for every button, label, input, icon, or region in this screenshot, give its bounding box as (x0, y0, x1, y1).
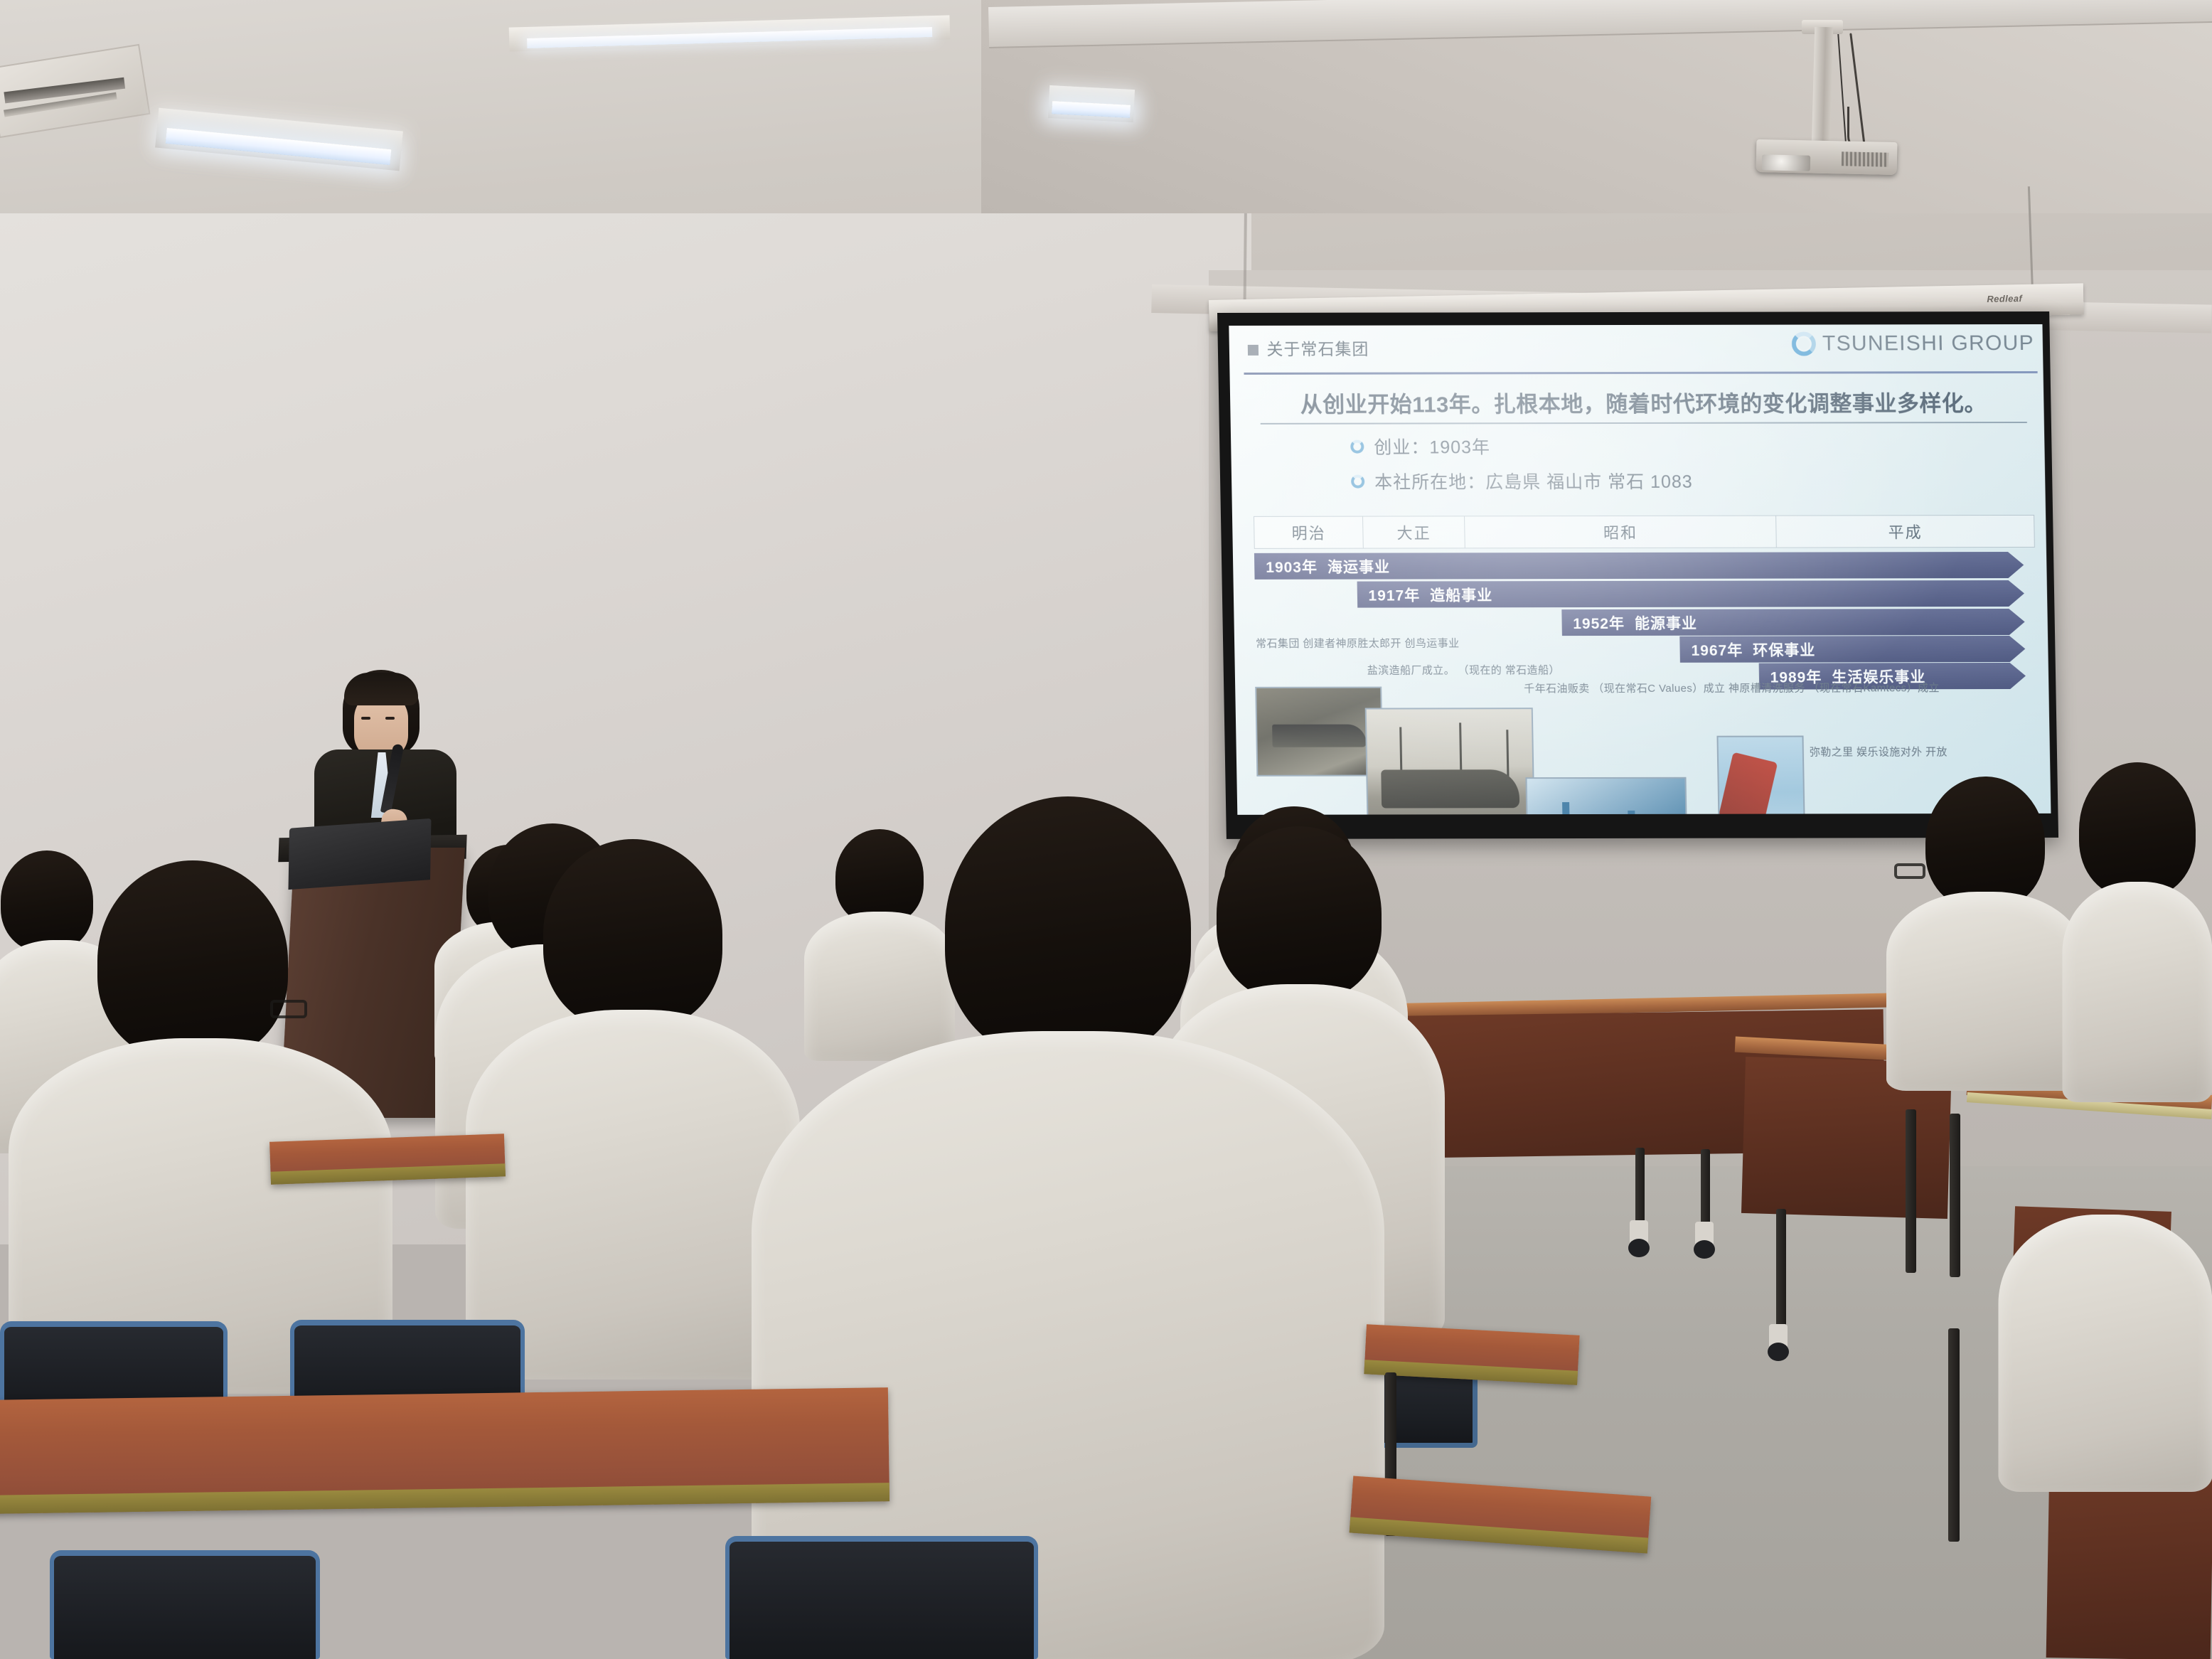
slide-photo-roller-coaster (1716, 735, 1805, 814)
bullet-item-founding: 创业：1903年 (1350, 433, 1692, 459)
audience-member-right (1886, 777, 2085, 1082)
audience-member-front-center (469, 839, 796, 1365)
timeline-bar-1952: 1952年 能源事业 (1561, 609, 2025, 636)
timeline-business: 造船事业 (1430, 584, 1493, 605)
screen-brand-label: Redleaf (1987, 293, 2022, 304)
person-torso (1886, 892, 2084, 1091)
table-leg (1906, 1109, 1916, 1273)
chair-back-foreground (50, 1550, 320, 1659)
era-cell-heisei: 平成 (1776, 516, 2034, 548)
bullet-text: 本社所在地：広島県 福山市 常石 1083 (1374, 468, 1693, 494)
person-torso (1998, 1215, 2212, 1492)
projector-vent (1842, 151, 1888, 166)
presenter-hair-front (344, 673, 418, 705)
table-caster (1630, 1220, 1648, 1244)
bullet-item-headquarters: 本社所在地：広島県 福山市 常石 1083 (1351, 468, 1693, 494)
presentation-slide: 关于常石集团 TSUNEISHI GROUP 从创业开始113年。扎根本地，随着… (1229, 324, 2051, 815)
desk-row-mid-left (269, 1133, 506, 1184)
projector-lens-icon (1762, 154, 1810, 171)
bullet-text: 创业：1903年 (1374, 433, 1490, 459)
era-header-table: 明治 大正 昭和 平成 (1254, 515, 2035, 549)
timeline-bar-1967: 1967年 环保事业 (1679, 636, 2025, 663)
table-leg (1635, 1148, 1645, 1226)
table-leg (1776, 1209, 1786, 1330)
table-leg (1948, 1328, 1960, 1542)
caption-leisure: 弥勒之里 娱乐设施对外 开放 (1810, 744, 1947, 761)
audience-member-foreground (819, 796, 1317, 1659)
header-square-bullet-icon (1248, 345, 1259, 356)
timeline-year: 1952年 (1573, 612, 1625, 633)
projection-screen: 关于常石集团 TSUNEISHI GROUP 从创业开始113年。扎根本地，随着… (1217, 311, 2058, 839)
person-head (945, 796, 1191, 1061)
projector-mount-pole (1812, 27, 1833, 150)
slide-photo-historic-ship (1255, 687, 1383, 777)
presenter-eye-left (361, 717, 370, 720)
slide-bullet-list: 创业：1903年 本社所在地：広島県 福山市 常石 1083 (1350, 433, 1693, 503)
timeline-business: 环保事业 (1753, 639, 1816, 660)
timeline-year: 1967年 (1691, 639, 1743, 660)
era-cell-taisho: 大正 (1363, 516, 1465, 548)
caption-shipyard: 盐滨造船厂成立。 （现在的 常石造船） (1367, 662, 1560, 679)
person-head (543, 839, 722, 1030)
chair-back-foreground (725, 1536, 1038, 1659)
slide-photo-wooden-ship (1365, 708, 1535, 815)
desk-front-row (0, 1387, 889, 1514)
brand-wordmark: TSUNEISHI GROUP (1822, 331, 2035, 356)
timeline-business: 海运事业 (1327, 555, 1391, 577)
slide-headline: 从创业开始113年。扎根本地，随着时代环境的变化调整事业多样化。 (1260, 385, 2027, 425)
fluorescent-light-right (1048, 85, 1135, 122)
audience-member-right (2062, 762, 2212, 1097)
person-head (1925, 777, 2045, 909)
desk-panel-far-right-lower (2046, 1463, 2212, 1659)
slide-header: 关于常石集团 TSUNEISHI GROUP (1248, 334, 2031, 373)
person-head (2079, 762, 2196, 897)
ring-bullet-icon (1350, 439, 1364, 453)
person-head (97, 860, 288, 1061)
ring-bullet-icon (1351, 474, 1364, 488)
table-leg (1950, 1114, 1960, 1277)
timeline-bar-1917: 1917年 造船事业 (1357, 580, 2024, 608)
person-torso (2062, 882, 2212, 1102)
table-caster (1769, 1324, 1788, 1348)
table-caster (1695, 1222, 1714, 1246)
table-leg (1701, 1149, 1710, 1227)
presenter-eye-right (385, 717, 395, 720)
timeline-bar-1903: 1903年 海运事业 (1254, 552, 2024, 580)
slide-header-title: 关于常石集团 (1266, 336, 1369, 360)
caption-founder: 常石集団 创建者神原胜太郎开 创鸟运事业 (1256, 635, 1460, 652)
caption-energy-environment: 千年石油贩卖 （现在常石C Values）成立 神原槽清洗服务 （现在常石Kam… (1524, 680, 1940, 697)
era-cell-showa: 昭和 (1465, 516, 1777, 548)
lecture-room-photo: Redleaf 关于常石集团 TSUNEISHI GROUP 从创业开始113年… (0, 0, 2212, 1659)
timeline-year: 1903年 (1266, 555, 1318, 577)
glasses-icon (270, 1000, 307, 1018)
tsuneishi-ring-logo-icon (1792, 332, 1817, 356)
brand-lockup: TSUNEISHI GROUP (1792, 331, 2035, 356)
glasses-icon (1894, 863, 1925, 879)
timeline-year: 1917年 (1368, 584, 1420, 605)
slide-photo-shipyard (1525, 777, 1688, 815)
audience-member-front-left (23, 860, 392, 1372)
header-divider (1244, 371, 2037, 375)
audience-member-right (1998, 1186, 2212, 1485)
timeline-business: 能源事业 (1635, 612, 1698, 633)
era-cell-meiji: 明治 (1254, 517, 1364, 548)
